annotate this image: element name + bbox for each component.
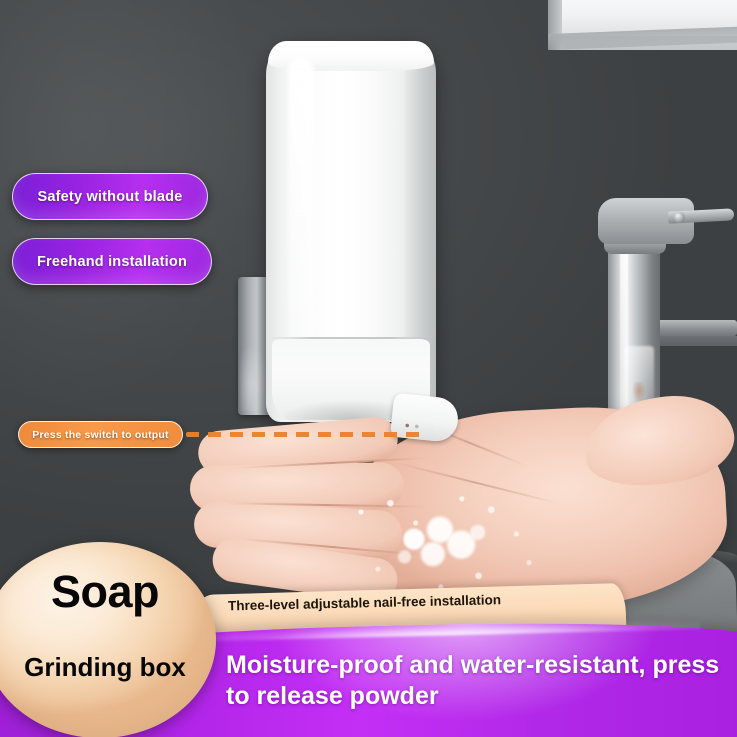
callout-badge-label: Press the switch to output (32, 429, 168, 441)
feature-badge-freehand-label: Freehand installation (37, 254, 187, 270)
logo-badge-subtitle: Grinding box (0, 652, 210, 683)
feature-badge-freehand: Freehand installation (12, 238, 212, 285)
bottom-banner-text: Moisture-proof and water-resistant, pres… (226, 650, 737, 711)
feature-badge-safety: Safety without blade (12, 173, 208, 220)
faucet-screw-icon (674, 212, 685, 223)
soap-dispenser (266, 41, 436, 422)
chrome-faucet (590, 186, 737, 431)
mirror-frame (548, 0, 737, 50)
product-photo-scene: Safety without blade Freehand installati… (0, 0, 737, 737)
faucet-spout (652, 320, 737, 336)
callout-badge-press-switch: Press the switch to output (18, 421, 183, 448)
logo-badge-title: Soap (0, 566, 210, 618)
callout-dashed-connector (186, 432, 426, 437)
faucet-spout-underside (652, 336, 737, 346)
soap-powder-specks (340, 490, 550, 600)
feature-badge-safety-label: Safety without blade (38, 189, 183, 205)
